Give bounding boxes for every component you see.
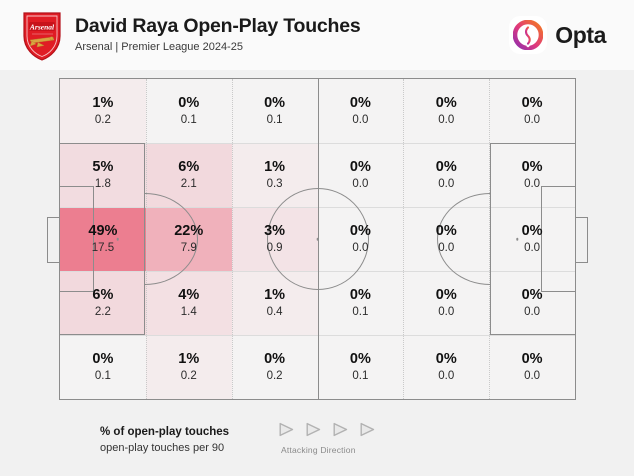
cell-per90: 0.0 [524,113,540,128]
cell-per90: 0.0 [524,241,540,256]
right-goal [575,217,588,263]
cell-percent: 0% [522,95,543,112]
cell-percent: 1% [178,351,199,368]
cell-percent: 6% [92,287,113,304]
footer-legend: % of open-play touches open-play touches… [0,412,634,476]
heatmap-cell: 0%0.0 [403,79,489,143]
left-goal [47,217,60,263]
cell-per90: 1.4 [181,305,197,320]
attacking-direction-label: Attacking Direction [281,445,356,455]
cell-per90: 0.0 [524,305,540,320]
cell-percent: 0% [350,95,371,112]
cell-per90: 7.9 [181,241,197,256]
cell-percent: 0% [436,159,457,176]
cell-percent: 0% [522,351,543,368]
arrow-right-icon [278,422,295,437]
centre-spot [316,238,319,241]
cell-percent: 0% [522,223,543,240]
svg-text:Arsenal: Arsenal [29,22,55,31]
cell-per90: 0.1 [352,369,368,384]
cell-per90: 0.0 [438,241,454,256]
cell-per90: 0.0 [438,305,454,320]
cell-per90: 0.4 [267,305,283,320]
cell-percent: 0% [436,223,457,240]
cell-per90: 0.1 [95,369,111,384]
page-subtitle: Arsenal | Premier League 2024-25 [75,39,361,55]
cell-per90: 0.0 [438,113,454,128]
cell-per90: 0.1 [352,305,368,320]
cell-percent: 0% [178,95,199,112]
heatmap-cell: 0%0.0 [489,79,575,143]
legend-primary-label: % of open-play touches [100,424,229,440]
cell-per90: 0.9 [267,241,283,256]
cell-per90: 2.1 [181,177,197,192]
cell-percent: 1% [264,287,285,304]
heatmap-cell: 0%0.0 [489,335,575,399]
cell-percent: 22% [174,223,203,240]
arsenal-crest-icon: Arsenal [20,10,64,62]
cell-per90: 0.2 [95,113,111,128]
legend-text-block: % of open-play touches open-play touches… [100,424,229,456]
cell-per90: 17.5 [92,241,114,256]
cell-percent: 1% [264,159,285,176]
opta-swirl-icon [513,20,543,50]
title-block: David Raya Open-Play Touches Arsenal | P… [75,14,361,55]
cell-percent: 4% [178,287,199,304]
heatmap-cell: 0%0.1 [146,79,232,143]
cell-per90: 0.0 [524,369,540,384]
header-bar: Arsenal David Raya Open-Play Touches Ars… [0,0,634,70]
arsenal-crest: Arsenal [20,10,64,62]
cell-per90: 0.1 [267,113,283,128]
cell-percent: 0% [92,351,113,368]
cell-percent: 49% [88,223,117,240]
cell-per90: 2.2 [95,305,111,320]
cell-percent: 0% [264,351,285,368]
cell-percent: 0% [350,351,371,368]
cell-percent: 0% [436,351,457,368]
cell-per90: 1.8 [95,177,111,192]
opta-logo: Opta [509,16,606,54]
heatmap-cell: 0%0.1 [60,335,146,399]
heatmap-cell: 0%0.2 [232,335,318,399]
cell-percent: 0% [522,159,543,176]
cell-per90: 0.3 [267,177,283,192]
cell-percent: 5% [92,159,113,176]
heatmap-cell: 1%0.2 [60,79,146,143]
cell-percent: 0% [350,223,371,240]
cell-per90: 0.1 [181,113,197,128]
cell-percent: 3% [264,223,285,240]
cell-per90: 0.2 [181,369,197,384]
cell-per90: 0.0 [352,113,368,128]
infographic-root: Arsenal David Raya Open-Play Touches Ars… [0,0,634,476]
heatmap-cell: 0%0.0 [403,335,489,399]
heatmap-cell: 0%0.1 [318,335,404,399]
legend-secondary-label: open-play touches per 90 [100,440,229,456]
cell-per90: 0.2 [267,369,283,384]
cell-per90: 0.0 [438,177,454,192]
arrow-right-icon [359,422,376,437]
right-penalty-spot [516,238,519,241]
right-six-yard-box [541,186,575,292]
football-pitch: 1%0.20%0.10%0.10%0.00%0.00%0.05%1.86%2.1… [59,78,576,400]
cell-percent: 0% [350,287,371,304]
cell-percent: 0% [350,159,371,176]
cell-percent: 6% [178,159,199,176]
cell-per90: 0.0 [352,177,368,192]
page-title: David Raya Open-Play Touches [75,14,361,38]
heatmap-cell: 0%0.1 [232,79,318,143]
cell-per90: 0.0 [524,177,540,192]
pitch-area: 1%0.20%0.10%0.10%0.00%0.00%0.05%1.86%2.1… [0,70,634,410]
opta-wordmark: Opta [555,22,606,49]
opta-mark-icon [509,16,547,54]
cell-per90: 0.0 [438,369,454,384]
arrow-right-icon [305,422,322,437]
cell-percent: 0% [522,287,543,304]
cell-percent: 0% [264,95,285,112]
heatmap-cell: 1%0.2 [146,335,232,399]
arrow-right-icon [332,422,349,437]
heatmap-cell: 0%0.0 [318,79,404,143]
cell-percent: 1% [92,95,113,112]
attacking-direction-arrows [278,422,376,437]
cell-percent: 0% [436,95,457,112]
cell-per90: 0.0 [352,241,368,256]
cell-percent: 0% [436,287,457,304]
